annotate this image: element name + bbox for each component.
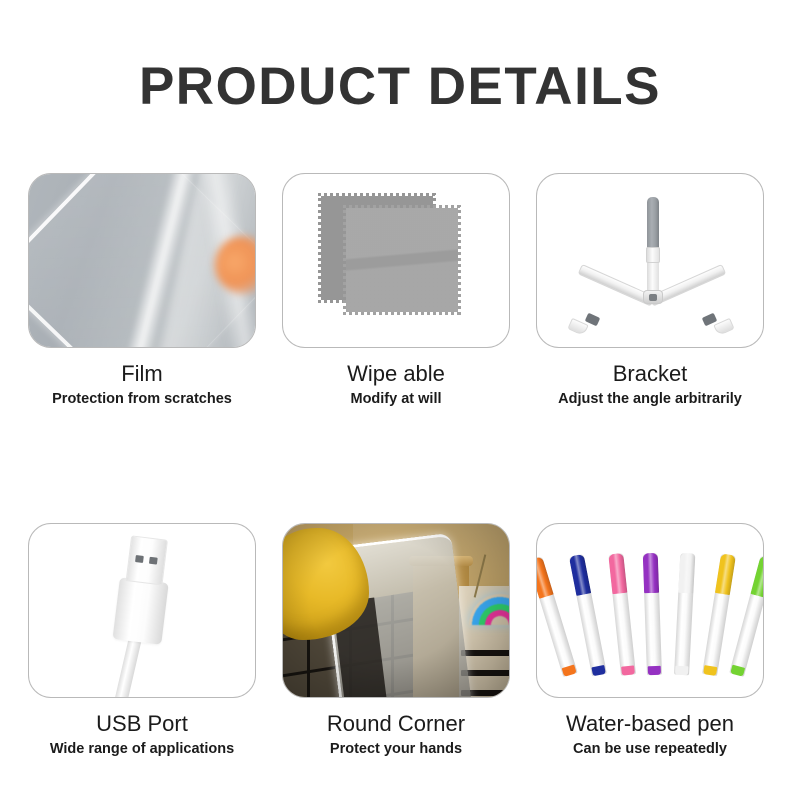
feature-cell-wipe-able: Wipe able Modify at will — [282, 173, 510, 408]
feature-subtitle-usb-port: Wide range of applications — [28, 740, 256, 758]
feature-cell-bracket: Bracket Adjust the angle arbitrarily — [536, 173, 764, 408]
feature-cell-film: Film Protection from scratches — [28, 173, 256, 408]
feature-subtitle-water-based-pen: Can be use repeatedly — [536, 740, 764, 758]
green-pen-cap — [750, 555, 764, 598]
photo-vignette — [283, 524, 509, 697]
bracket-hinge-pin — [649, 294, 657, 301]
pink-pen — [608, 553, 636, 676]
usb-housing — [113, 577, 169, 645]
purple-pen-cap — [643, 553, 659, 593]
usb-metal-tip — [126, 535, 168, 585]
yellow-pen-tip-band — [703, 665, 717, 676]
feature-cell-usb-port: USB Port Wide range of applications — [28, 523, 256, 758]
yellow-pen-cap — [715, 553, 736, 595]
feature-grid: Film Protection from scratches Wipe able… — [28, 173, 765, 758]
product-details-page: PRODUCT DETAILS Film Protection from scr… — [0, 0, 800, 800]
blue-pen-tip-band — [591, 665, 605, 676]
feature-subtitle-wipe-able: Modify at will — [282, 390, 510, 408]
usb-connector-icon — [103, 534, 193, 698]
feature-title-water-based-pen: Water-based pen — [536, 711, 764, 737]
orange-pen-tip-band — [562, 664, 577, 676]
white-pen-cap — [678, 553, 695, 594]
feature-title-bracket: Bracket — [536, 361, 764, 387]
blue-pen — [569, 554, 607, 677]
pink-pen-cap — [608, 553, 627, 594]
usb-contact-slot-right — [149, 557, 158, 565]
cleaning-cloth-front-icon — [346, 208, 458, 312]
page-title: PRODUCT DETAILS — [0, 56, 800, 118]
pink-pen-tip-band — [621, 665, 635, 675]
round-corner-photo — [283, 524, 509, 697]
green-pen — [729, 555, 764, 677]
feature-subtitle-film: Protection from scratches — [28, 390, 256, 408]
blue-pen-cap — [569, 554, 591, 596]
usb-cable — [114, 638, 142, 698]
feature-cell-round-corner: Round Corner Protect your hands — [282, 523, 510, 758]
feature-title-round-corner: Round Corner — [282, 711, 510, 737]
green-pen-tip-band — [730, 665, 745, 677]
feature-image-bracket — [536, 173, 764, 348]
feature-image-usb-port — [28, 523, 256, 698]
orange-pen-cap — [536, 556, 554, 599]
feature-image-water-based-pen — [536, 523, 764, 698]
feature-image-film — [28, 173, 256, 348]
feature-subtitle-bracket: Adjust the angle arbitrarily — [536, 390, 764, 408]
white-pen-tip-band — [675, 666, 688, 676]
white-pen — [674, 553, 695, 676]
feature-title-film: Film — [28, 361, 256, 387]
usb-contact-slot-left — [135, 555, 144, 563]
purple-pen — [643, 553, 662, 675]
feature-cell-water-based-pen: Water-based pen Can be use repeatedly — [536, 523, 764, 758]
feature-title-wipe-able: Wipe able — [282, 361, 510, 387]
purple-pen-tip-band — [648, 666, 661, 675]
feature-image-wipe-able — [282, 173, 510, 348]
bracket-post-upper — [647, 197, 659, 249]
marker-pen-set — [537, 524, 763, 697]
feature-image-round-corner — [282, 523, 510, 698]
feature-subtitle-round-corner: Protect your hands — [282, 740, 510, 758]
bracket-post-joint — [646, 247, 660, 263]
yellow-pen — [702, 553, 736, 676]
feature-title-usb-port: USB Port — [28, 711, 256, 737]
